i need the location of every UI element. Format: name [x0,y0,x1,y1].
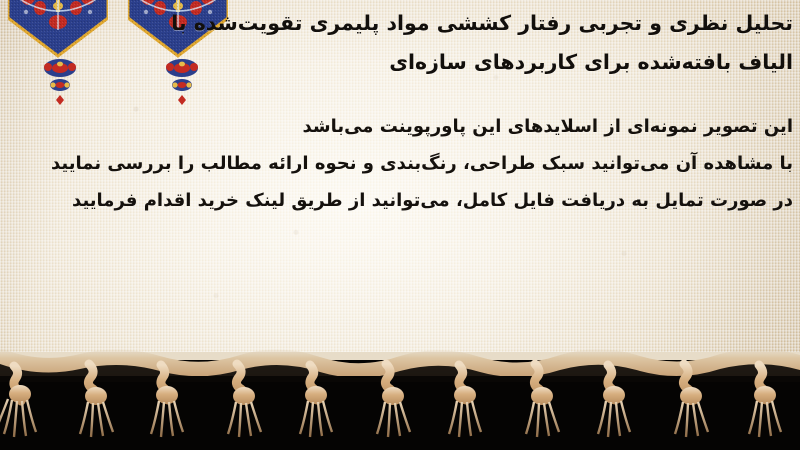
carpet-fringe-tassels [0,342,800,450]
body-line-1: این تصویر نمونه‌ای از اسلایدهای این پاور… [13,108,793,145]
body-line-3: در صورت تمایل به دریافت فایل کامل، می‌تو… [13,182,793,219]
title-line-2: الیاف بافته‌شده برای کاربردهای سازه‌ای [389,50,793,74]
slide-title: تحلیل نظری و تجربی رفتار کششی مواد پلیمر… [113,4,793,82]
slide-text-layer: تحلیل نظری و تجربی رفتار کششی مواد پلیمر… [0,0,800,352]
slide-canvas: تحلیل نظری و تجربی رفتار کششی مواد پلیمر… [0,0,800,450]
body-line-2: با مشاهده آن می‌توانید سبک طراحی، رنگ‌بن… [13,145,793,182]
title-line-1: تحلیل نظری و تجربی رفتار کششی مواد پلیمر… [171,11,793,35]
fringe-detail [0,342,800,450]
slide-body: این تصویر نمونه‌ای از اسلایدهای این پاور… [13,108,793,219]
